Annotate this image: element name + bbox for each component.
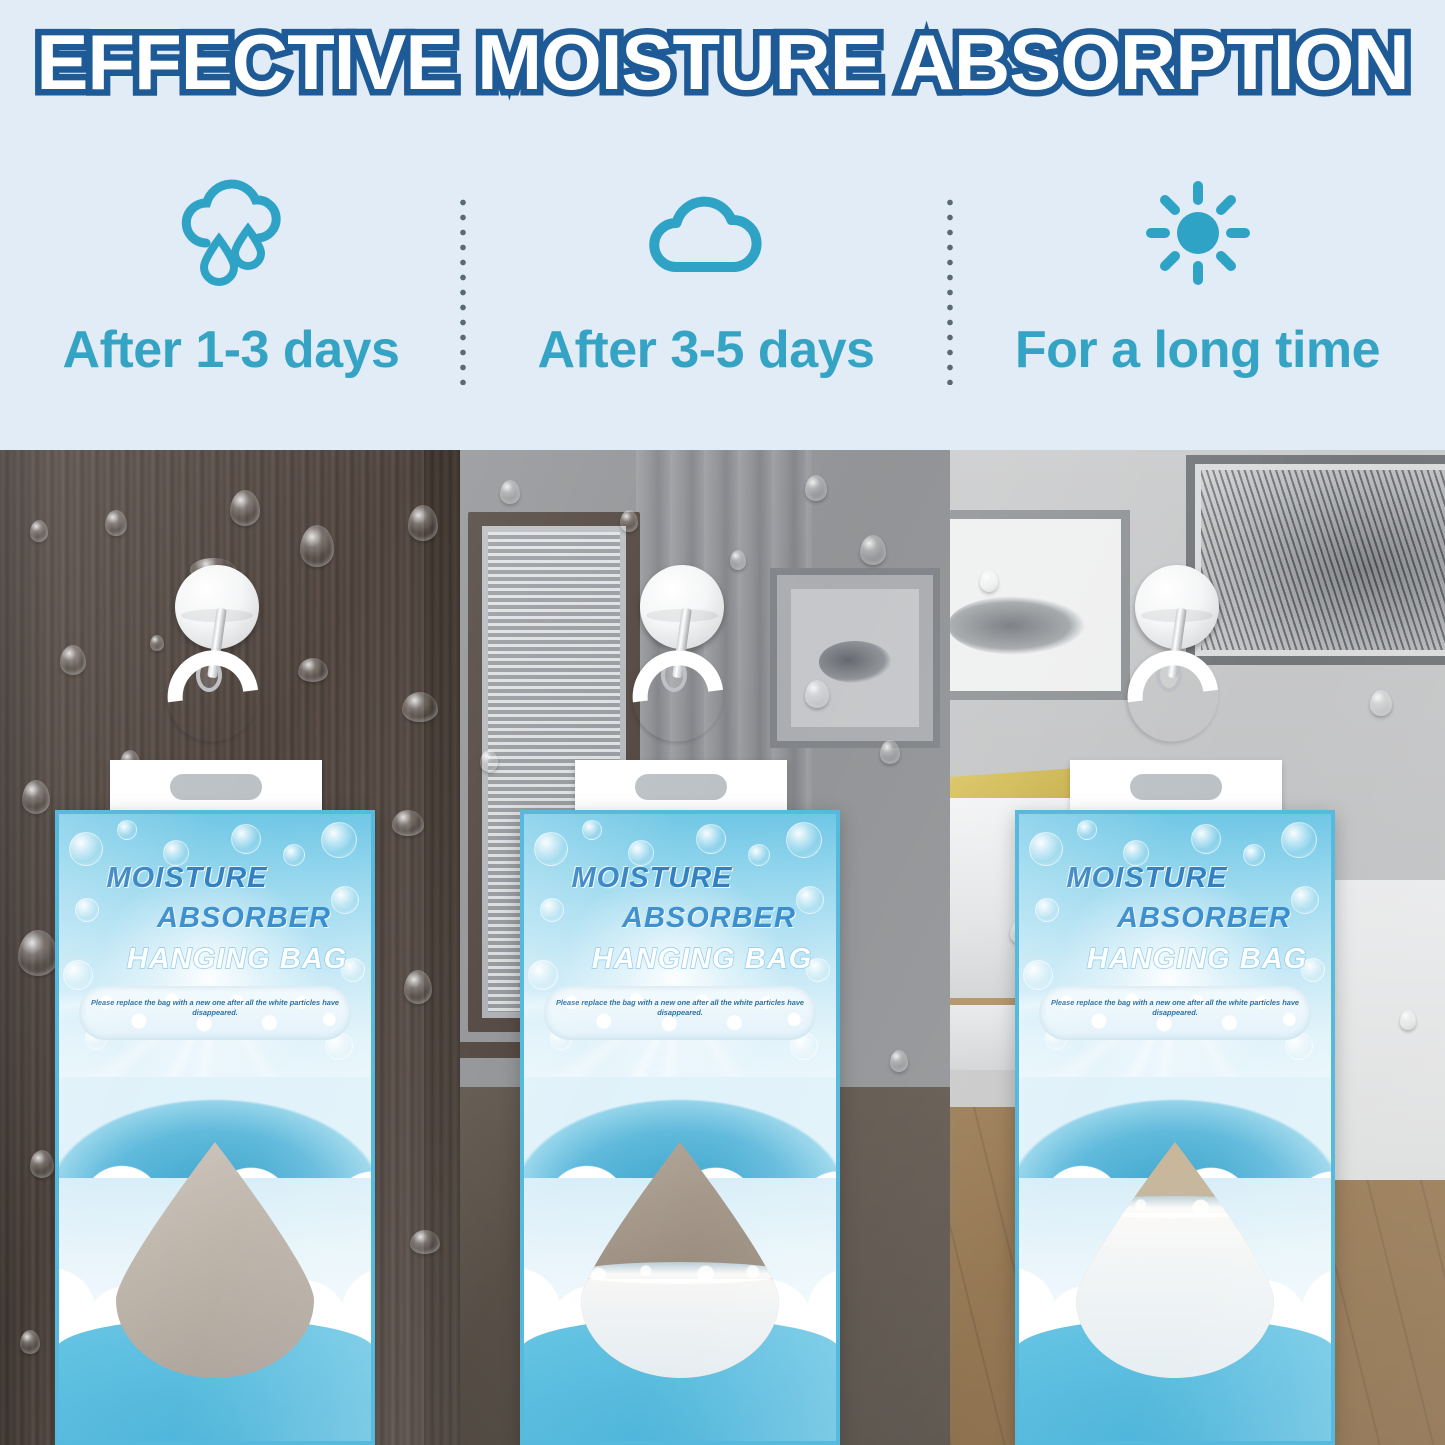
hanger-hook-icon [1109, 632, 1237, 760]
bag-title-line-1: MOISTURE [520, 862, 840, 895]
page-title-wrap: EFFECTIVE MOISTURE ABSORPTION [0, 12, 1445, 112]
hanger-plate [110, 760, 322, 812]
sun-icon [1146, 168, 1250, 298]
divider-1 [459, 195, 467, 385]
droplet-water-surface [581, 1262, 779, 1284]
bag-title-line-3: HANGING BAG [55, 943, 375, 976]
hanging-unit-1: MOISTURE ABSORBER HANGING BAG Please rep… [0, 450, 460, 1445]
bag-fine-print: Please replace the bag with a new one af… [1049, 998, 1301, 1018]
bag-fine-print: Please replace the bag with a new one af… [554, 998, 806, 1018]
cloud-icon [642, 168, 770, 298]
hanger-slot [170, 774, 262, 800]
bubble [534, 832, 568, 866]
panel-wood-door: MOISTURE ABSORBER HANGING BAG Please rep… [0, 450, 460, 1445]
bubble [696, 824, 726, 854]
feature-row: After 1-3 days After 3-5 days [0, 150, 1445, 430]
bubble [786, 822, 822, 858]
bag-title-line-3: HANGING BAG [1015, 943, 1335, 976]
panel-window-room: MOISTURE ABSORBER HANGING BAG Please rep… [460, 450, 950, 1445]
feature-label-1: After 1-3 days [63, 320, 400, 380]
bubble [1191, 824, 1221, 854]
feature-label-3: For a long time [1015, 320, 1380, 380]
moisture-absorber-bag: MOISTURE ABSORBER HANGING BAG Please rep… [1015, 810, 1335, 1445]
bubble [117, 820, 137, 840]
bag-title-line-3: HANGING BAG [520, 943, 840, 976]
bag-title-line-2: ABSORBER [55, 902, 375, 935]
panel-bedroom: MOISTURE ABSORBER HANGING BAG Please rep… [950, 450, 1445, 1445]
bubble [321, 822, 357, 858]
hanger-plate [1070, 760, 1282, 812]
infographic-page: EFFECTIVE MOISTURE ABSORPTION After 1-3 … [0, 0, 1445, 1445]
feature-item-2: After 3-5 days [462, 150, 950, 430]
moisture-absorber-bag: MOISTURE ABSORBER HANGING BAG Please rep… [520, 810, 840, 1445]
photo-strip: MOISTURE ABSORBER HANGING BAG Please rep… [0, 450, 1445, 1445]
bubble [582, 820, 602, 840]
bubble [1077, 820, 1097, 840]
moisture-absorber-bag: MOISTURE ABSORBER HANGING BAG Please rep… [55, 810, 375, 1445]
feature-item-3: For a long time [950, 150, 1445, 430]
bag-fine-print: Please replace the bag with a new one af… [89, 998, 341, 1018]
hanger-hook-icon [614, 632, 742, 760]
bubble [1029, 832, 1063, 866]
bag-title-line-1: MOISTURE [1015, 862, 1335, 895]
hanger-hook-icon [149, 632, 277, 760]
hanging-unit-3: MOISTURE ABSORBER HANGING BAG Please rep… [950, 450, 1445, 1445]
hanger-plate [575, 760, 787, 812]
divider-2 [946, 195, 954, 385]
hanger-slot [635, 774, 727, 800]
bubble [1281, 822, 1317, 858]
bag-title-line-2: ABSORBER [1015, 902, 1335, 935]
feature-item-1: After 1-3 days [0, 150, 462, 430]
rain-cloud-icon [172, 168, 290, 298]
hanger-slot [1130, 774, 1222, 800]
bubble [69, 832, 103, 866]
feature-label-2: After 3-5 days [538, 320, 875, 380]
page-title: EFFECTIVE MOISTURE ABSORPTION [36, 17, 1408, 108]
bag-title-line-1: MOISTURE [55, 862, 375, 895]
bubble [231, 824, 261, 854]
hanging-unit-2: MOISTURE ABSORBER HANGING BAG Please rep… [460, 450, 950, 1445]
header-band: EFFECTIVE MOISTURE ABSORPTION After 1-3 … [0, 0, 1445, 450]
bag-title-line-2: ABSORBER [520, 902, 840, 935]
